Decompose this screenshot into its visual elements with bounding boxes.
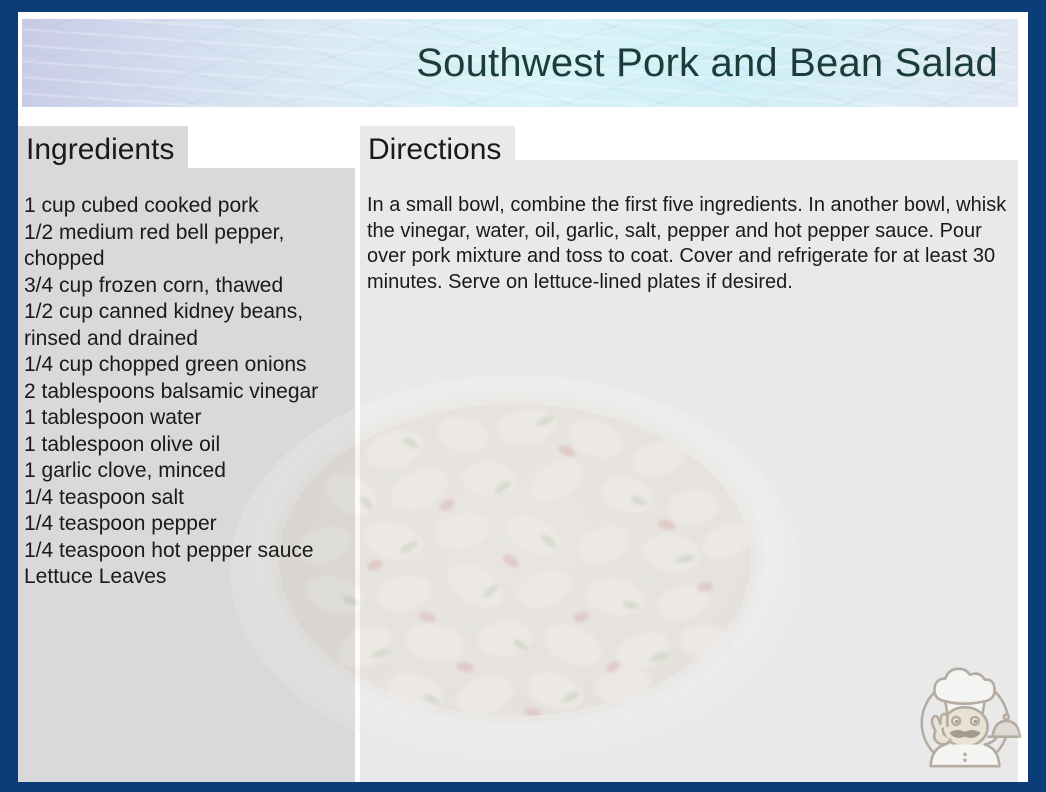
ingredient-item: 1 cup cubed cooked pork [24, 193, 354, 220]
directions-tab[interactable]: Directions [360, 126, 515, 170]
ingredient-item: 1 tablespoon olive oil [24, 432, 354, 459]
ingredients-list: 1 cup cubed cooked pork1/2 medium red be… [24, 193, 354, 591]
ingredient-item: 2 tablespoons balsamic vinegar [24, 379, 354, 406]
directions-text: In a small bowl, combine the first five … [367, 193, 1007, 295]
ingredient-item: 3/4 cup frozen corn, thawed [24, 273, 354, 300]
ingredient-item: 1/4 teaspoon salt [24, 485, 354, 512]
ingredient-item: 1/2 medium red bell pepper, chopped [24, 220, 354, 273]
ingredients-tab[interactable]: Ingredients [18, 126, 188, 170]
ingredient-item: 1/4 teaspoon pepper [24, 511, 354, 538]
ingredient-item: 1/4 cup chopped green onions [24, 352, 354, 379]
title-banner: Southwest Pork and Bean Salad [22, 19, 1018, 107]
page-title: Southwest Pork and Bean Salad [416, 43, 998, 83]
ingredient-item: 1/4 teaspoon hot pepper sauce [24, 538, 354, 565]
ingredient-item: 1/2 cup canned kidney beans, rinsed and … [24, 299, 354, 352]
ingredient-item: Lettuce Leaves [24, 564, 354, 591]
ingredient-item: 1 garlic clove, minced [24, 458, 354, 485]
ingredient-item: 1 tablespoon water [24, 405, 354, 432]
recipe-card: Southwest Pork and Bean Salad [0, 0, 1046, 792]
